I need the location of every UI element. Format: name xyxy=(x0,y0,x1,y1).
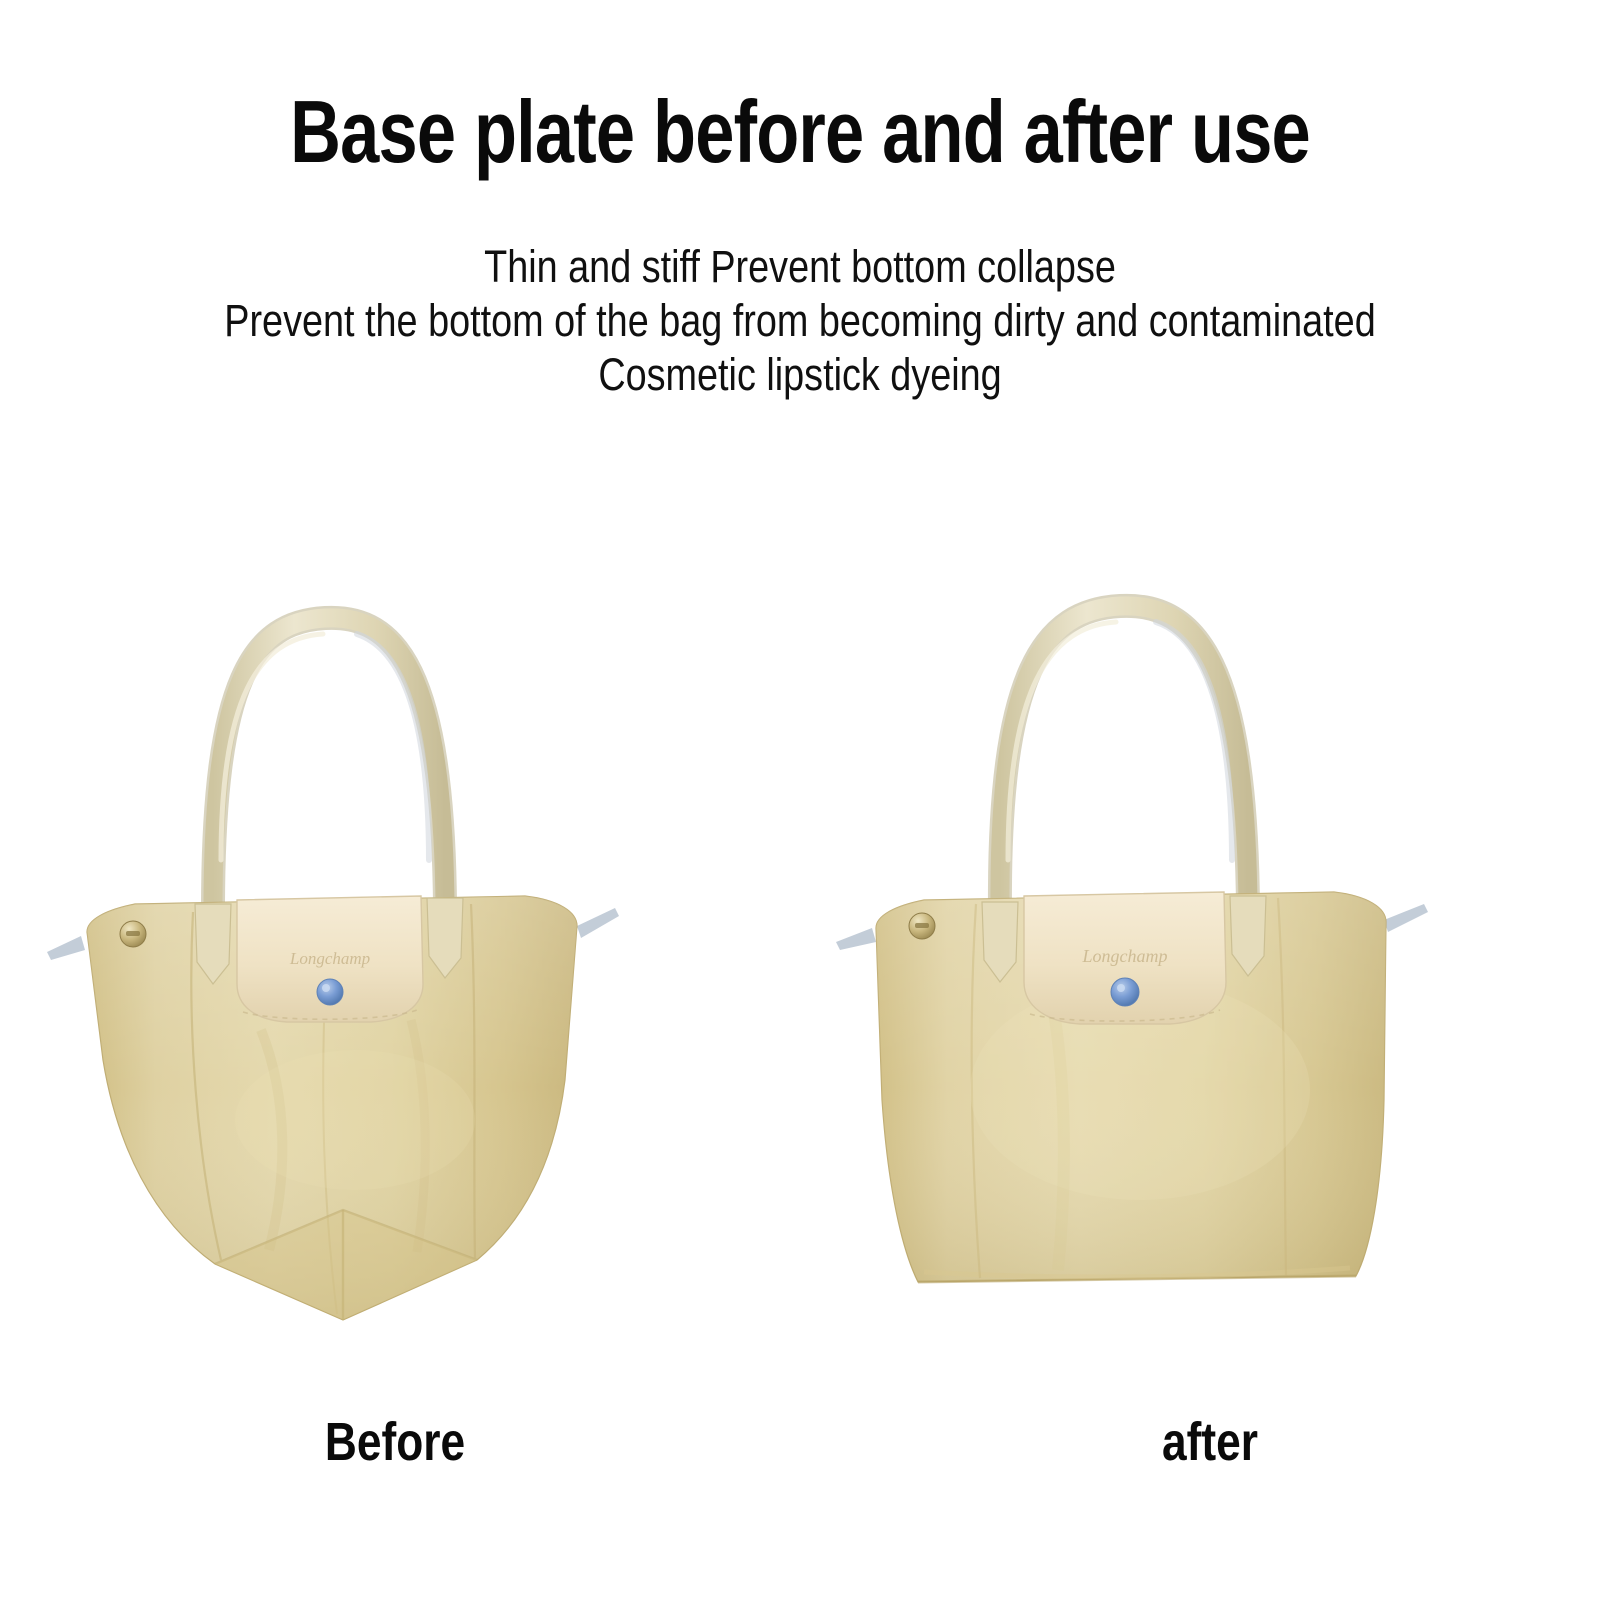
after-bag-panel: Longchamp xyxy=(800,560,1560,1380)
before-bag-handle xyxy=(213,618,445,910)
subtitle-line-3: Cosmetic lipstick dyeing xyxy=(128,348,1472,402)
before-bag-flap: Longchamp xyxy=(237,896,423,1022)
svg-text:Longchamp: Longchamp xyxy=(1082,946,1168,966)
subtitle-block: Thin and stiff Prevent bottom collapse P… xyxy=(0,240,1600,402)
header: Base plate before and after use xyxy=(0,88,1600,176)
before-bag-image: Longchamp xyxy=(25,560,785,1380)
subtitle-line-2: Prevent the bottom of the bag from becom… xyxy=(128,294,1472,348)
after-bag-handle xyxy=(1000,606,1248,912)
subtitle-line-1: Thin and stiff Prevent bottom collapse xyxy=(128,240,1472,294)
after-bag-image: Longchamp xyxy=(800,560,1560,1380)
after-bag-flap: Longchamp xyxy=(1024,892,1226,1024)
product-comparison-page: Base plate before and after use Thin and… xyxy=(0,0,1600,1600)
caption-after: after xyxy=(1038,1415,1382,1469)
before-bag-panel: Longchamp xyxy=(25,560,785,1380)
caption-before: Before xyxy=(223,1415,567,1469)
before-bag-corner-snap xyxy=(120,921,146,947)
after-bag-corner-snap xyxy=(909,913,935,939)
page-title: Base plate before and after use xyxy=(160,88,1440,176)
comparison-stage: Longchamp xyxy=(0,560,1600,1380)
svg-text:Longchamp: Longchamp xyxy=(289,949,370,968)
